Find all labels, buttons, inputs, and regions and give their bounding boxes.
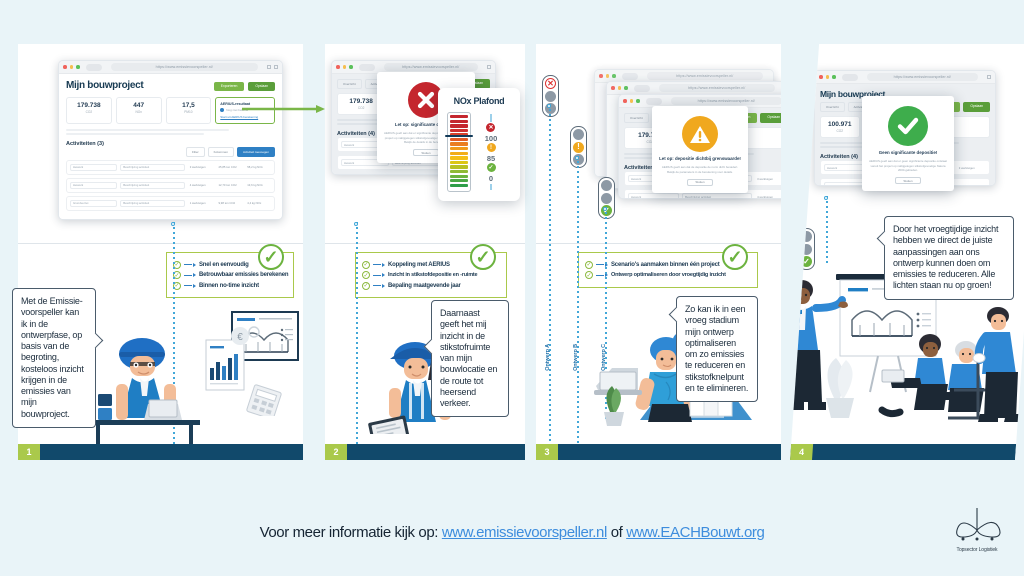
cell-description: Beschrijving activiteit (120, 200, 185, 207)
speech-bubble-3: Zo kan ik in een vroeg stadium mijn ontw… (676, 296, 758, 402)
check-circle-icon: ✓ (487, 163, 496, 172)
dialog-close-button[interactable]: Sluiten (895, 177, 921, 184)
refresh-icon[interactable] (987, 75, 991, 79)
url-bar[interactable]: https://www.emissievoorspeller.nl/ (659, 84, 776, 92)
browser-content: Mijn bouwproject Exporteren Opslaan 179.… (59, 74, 282, 220)
arrow-icon (382, 263, 385, 267)
checklist-label: Bepaling maatgevende jaar (388, 283, 461, 289)
kpi-label: NOx (119, 110, 159, 114)
check-circle-icon (888, 106, 928, 146)
arrow-icon (382, 273, 385, 277)
tab-overview[interactable]: Overzicht (624, 113, 649, 123)
warning-triangle-icon (682, 116, 718, 152)
infographic-stage: https://www.emissievoorspeller.nl/ Mijn … (0, 0, 1024, 576)
close-dot-icon[interactable] (336, 65, 340, 69)
nav-buttons-icon[interactable] (622, 73, 638, 80)
description-placeholder (66, 129, 275, 135)
lamp-off (601, 193, 612, 204)
arrow-icon (193, 284, 196, 288)
cell-machines: 4 werktuigen (957, 182, 986, 186)
connector-node (171, 222, 175, 226)
aerius-start-link[interactable]: Start uit AERIUS berekening (220, 115, 270, 119)
cell-co2: 25,85 ton CO2 (216, 164, 242, 171)
tab-overview[interactable]: Overzicht (337, 79, 362, 89)
dialog-body: AERIUS geeft aan dat er geen significant… (869, 159, 947, 172)
minimize-dot-icon[interactable] (343, 65, 347, 69)
dotted-connector (356, 222, 358, 460)
close-dot-icon[interactable] (623, 99, 627, 103)
close-dot-icon[interactable] (599, 74, 603, 78)
minimize-dot-icon[interactable] (606, 74, 610, 78)
kpi-value: 447 (119, 102, 159, 109)
nox-value: 0 (489, 174, 493, 183)
nav-buttons-icon[interactable] (634, 85, 650, 92)
add-activity-button[interactable]: Activiteit toevoegen (237, 147, 275, 157)
dialog-title: Let op: depositie dichtbij grenswaarde! (659, 156, 741, 162)
connector-node (354, 222, 358, 226)
cell-nox: 58,2 kg NOx (245, 164, 271, 171)
nav-buttons-icon[interactable] (842, 74, 858, 81)
speech-bubble-1: Met de Emissie-voorspeller kan ik in de … (12, 288, 96, 428)
speech-bubble-2: Daarnaast geeft het mij inzicht in de st… (431, 300, 509, 417)
checklist-label: Inzicht in stikstofdepositie en -ruimte (388, 272, 477, 278)
url-bar[interactable]: https://www.emissievoorspeller.nl/ (867, 73, 979, 81)
maximize-dot-icon[interactable] (349, 65, 353, 69)
check-circle-icon: ✓ (585, 271, 593, 279)
table-row[interactable]: Heiwerk Beschrijving activiteit 4 werktu… (66, 178, 275, 193)
kpi-co2: 179.738 CO2 (66, 97, 112, 124)
footer-info: Voor meer informatie kijk op: www.emissi… (0, 524, 1024, 541)
arrow-icon (193, 273, 196, 277)
footer-prefix: Voor meer informatie kijk op: (260, 524, 438, 541)
nox-value: 100 (485, 134, 498, 143)
cell-co2: 9,98 ton CO2 (216, 200, 242, 207)
checklist-label: Scenario's aanmaken binnen één project (611, 262, 720, 268)
nox-mark-mid: ! 85 (487, 143, 496, 163)
cell-activity: Heiwerk (628, 193, 679, 199)
cell-activity: Heiwerk (70, 182, 117, 189)
illustration-documents-chart: € (204, 310, 300, 416)
cell-description: Beschrijving activiteit (120, 164, 185, 171)
nox-plafond-card: NOx Plafond (438, 88, 520, 201)
cell-machines: 3 werktuigen (755, 175, 781, 182)
nav-buttons-icon[interactable] (646, 98, 662, 105)
connector-dash (184, 285, 192, 286)
nox-value: 85 (487, 154, 495, 163)
cell-nox: 4,4 kg NOx (245, 200, 271, 207)
kpi-value: 179.738 (340, 98, 382, 105)
url-bar[interactable]: https://www.emissievoorspeller.nl/ (111, 63, 259, 71)
browser-toolbar: https://www.emissievoorspeller.nl/ (59, 61, 282, 74)
refresh-icon[interactable] (487, 65, 491, 69)
info-dot-icon (220, 108, 224, 112)
minimize-dot-icon[interactable] (70, 65, 74, 69)
cell-machines: 4 werktuigen (755, 193, 781, 199)
cell-machines: 3 werktuigen (957, 164, 986, 171)
traffic-light-green: ✓ (798, 228, 815, 270)
cell-machines: 1 werktuigen (188, 200, 214, 207)
browser-toolbar: https://www.emissievoorspeller.nl/ (815, 71, 995, 84)
kpi-label: PM10 (169, 110, 209, 114)
maximize-dot-icon[interactable] (76, 65, 80, 69)
maximize-dot-icon[interactable] (832, 75, 836, 79)
lamp-off (801, 244, 812, 255)
nav-buttons-icon[interactable] (359, 64, 375, 71)
nox-gauge-bar (447, 112, 471, 192)
url-bar[interactable]: https://www.emissievoorspeller.nl/ (384, 63, 479, 71)
dialog-title: Geen significante depositie! (869, 150, 947, 156)
connector-dash (184, 264, 192, 265)
arrow-icon (193, 263, 196, 267)
connector-dash (373, 264, 381, 265)
check-circle-icon: ✓ (585, 261, 593, 269)
cell-activity: Grondverzet (70, 200, 117, 207)
table-row[interactable]: Grondverzet Beschrijving activiteit 1 we… (66, 196, 275, 211)
flow-arrow-icon (242, 104, 326, 114)
big-check-icon: ✓ (722, 244, 748, 270)
panel-footer: 1 (18, 444, 303, 460)
browser-window-1: https://www.emissievoorspeller.nl/ Mijn … (58, 60, 283, 220)
close-dot-icon[interactable] (611, 86, 615, 90)
connector-dash (373, 285, 381, 286)
connector-dash (184, 275, 192, 276)
warning-triangle-icon: ! (487, 143, 496, 152)
panel-number: 1 (18, 444, 40, 460)
svg-text:€: € (237, 332, 243, 343)
link-emissievoorspeller[interactable]: www.emissievoorspeller.nl (442, 524, 607, 541)
nav-buttons-icon[interactable] (86, 64, 102, 71)
kpi-nox: 447 NOx (116, 97, 162, 124)
close-dot-icon[interactable] (819, 75, 823, 79)
cell-machines: 4 werktuigen (188, 182, 214, 189)
nox-mark-high: ✕ 100 (485, 123, 498, 143)
bubble-text: Met de Emissie-voorspeller kan ik in de … (21, 296, 84, 419)
table-row[interactable]: Heiwerk Beschrijving activiteit 3 werktu… (66, 160, 275, 175)
kpi-label: CO2 (69, 110, 109, 114)
dotted-connector (577, 156, 579, 460)
bubble-text: Door het vroegtijdige inzicht hebben we … (893, 224, 998, 290)
columns-button[interactable]: Kolommen (208, 147, 234, 157)
check-circle-icon: ✓ (362, 282, 370, 290)
connector-node (603, 207, 607, 211)
connector-dash (596, 275, 604, 276)
footer-separator: of (611, 524, 623, 541)
nox-mark-low: ✓ 0 (487, 163, 496, 183)
link-eachbouwt[interactable]: www.EACHBouwt.org (626, 524, 764, 541)
check-circle-icon: ✓ (362, 271, 370, 279)
checklist-item: ✓ Ontwerp optimaliseren door vroegtijdig… (585, 271, 749, 279)
checklist-item: ✓ Inzicht in stikstofdepositie en -ruimt… (362, 271, 498, 279)
minimize-dot-icon[interactable] (826, 75, 830, 79)
panel-number: 2 (325, 444, 347, 460)
check-circle-icon: ✓ (362, 261, 370, 269)
panel-divider (536, 243, 781, 244)
checklist-item: ✓ Bepaling maatgevende jaar (362, 282, 498, 290)
illustration-worker-laptop (90, 332, 200, 444)
lamp-off (573, 129, 584, 140)
cell-activity: Heiwerk (70, 164, 117, 171)
checklist-label: Koppeling met AERIUS (388, 262, 450, 268)
checklist-label: Binnen no-time inzicht (199, 283, 259, 289)
dialog-deposition-near-threshold: Let op: depositie dichtbij grenswaarde! … (652, 106, 748, 193)
panel-footer: 2 (325, 444, 525, 460)
panel-divider (325, 243, 525, 244)
nox-scale: ✕ 100 ! 85 ✓ 0 (478, 112, 504, 192)
error-cross-icon: ✕ (545, 78, 556, 89)
arrow-icon (382, 284, 385, 288)
speech-bubble-4: Door het vroegtijdige inzicht hebben we … (884, 216, 1014, 300)
topsector-logistiek-logo: Topsector Logistiek (938, 506, 1016, 553)
cell-description: Beschrijving activiteit (120, 182, 185, 189)
url-bar[interactable]: https://www.emissievoorspeller.nl/ (671, 97, 782, 105)
bubble-text: Daarnaast geeft het mij inzicht in de st… (440, 308, 497, 408)
logo-caption: Topsector Logistiek (938, 547, 1016, 553)
kpi-value: 179.738 (69, 102, 109, 109)
panel-footer: 3 (536, 444, 781, 460)
panel-number: 4 (790, 444, 813, 460)
kpi-label: CO2 (823, 129, 857, 133)
lamp-off (545, 91, 556, 102)
maximize-dot-icon[interactable] (612, 74, 616, 78)
dialog-body: AERIUS geeft aan dat de depositie de nor… (659, 165, 741, 174)
checklist-label: Snel en eenvoudig (199, 262, 249, 268)
kpi-pm10: 17,5 PM10 (166, 97, 212, 124)
panel-divider (18, 243, 303, 244)
nox-card-title: NOx Plafond (447, 96, 511, 106)
cell-co2: 12,70 ton CO2 (216, 182, 242, 189)
connector-dash (596, 264, 604, 265)
logo-mark-icon (949, 506, 1005, 546)
panel-number: 3 (536, 444, 558, 460)
save-button[interactable]: Opslaan (760, 113, 781, 123)
panel-footer: 4 (790, 444, 1016, 460)
connector-node (824, 196, 828, 200)
scenario-label-a: Ontwerp A (545, 344, 551, 371)
big-check-icon: ✓ (258, 244, 284, 270)
save-button[interactable]: Opslaan (963, 102, 990, 112)
cell-nox: 13,6 kg NOx (245, 182, 271, 189)
dotted-connector (549, 104, 551, 460)
checklist-item: ✓ Betrouwbaar emissies berekenen (173, 271, 285, 279)
filter-button[interactable]: Filter (186, 147, 205, 157)
connector-dash (373, 275, 381, 276)
refresh-icon[interactable] (267, 65, 271, 69)
connector-node (547, 104, 551, 108)
error-cross-icon: ✕ (486, 123, 495, 132)
save-button[interactable]: Opslaan (248, 82, 275, 91)
connector-node (575, 156, 579, 160)
maximize-dot-icon[interactable] (636, 99, 640, 103)
big-check-icon: ✓ (470, 244, 496, 270)
kpi-value: 17,5 (169, 102, 209, 109)
kpi-co2: 100.971 CO2 (820, 116, 860, 138)
lamp-off (601, 180, 612, 191)
url-bar[interactable]: https://www.emissievoorspeller.nl/ (647, 72, 764, 80)
scenario-label-b: Ontwerp B (573, 344, 579, 371)
maximize-dot-icon[interactable] (624, 86, 628, 90)
checklist-item: ✓ Binnen no-time inzicht (173, 282, 285, 290)
kpi-value: 100.971 (823, 121, 857, 128)
dotted-connector (826, 196, 828, 266)
dialog-close-button[interactable]: Sluiten (413, 149, 439, 156)
dialog-no-significant-deposition: Geen significante depositie! AERIUS geef… (862, 96, 954, 191)
close-dot-icon[interactable] (63, 65, 67, 69)
nox-gauge: ✕ 100 ! 85 ✓ 0 (447, 112, 511, 192)
export-button[interactable]: Exporteren (214, 82, 245, 91)
minimize-dot-icon[interactable] (630, 99, 634, 103)
kpi-label: CO2 (340, 106, 382, 110)
lamp-off (801, 231, 812, 242)
cell-machines: 3 werktuigen (188, 164, 214, 171)
tab-overview[interactable]: Overzicht (820, 102, 845, 112)
bubble-text: Zo kan ik in een vroeg stadium mijn ontw… (685, 304, 748, 393)
activities-toolbar: Filter Kolommen Activiteit toevoegen (66, 147, 275, 157)
checklist-label: Betrouwbaar emissies berekenen (199, 272, 288, 278)
warning-triangle-icon: ! (573, 142, 584, 153)
minimize-dot-icon[interactable] (618, 86, 622, 90)
checklist-label: Ontwerp optimaliseren door vroegtijdig i… (611, 272, 726, 278)
cell-description: Beschrijving activiteit (682, 193, 752, 199)
dialog-close-button[interactable]: Sluiten (687, 179, 713, 186)
new-tab-icon[interactable] (274, 65, 278, 69)
